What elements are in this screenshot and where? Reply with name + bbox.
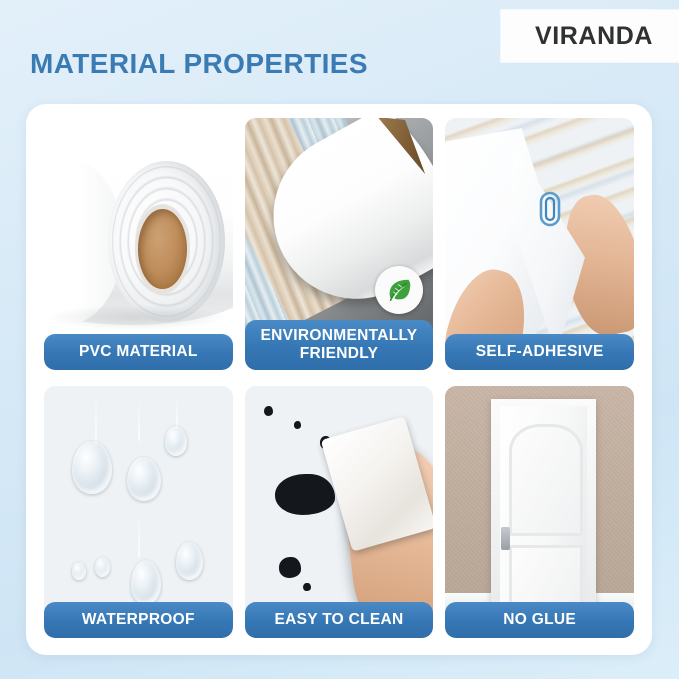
feature-label-environmentally-friendly: ENVIRONMENTALLY FRIENDLY <box>245 320 434 370</box>
feature-card: PVC MATERIAL <box>26 104 652 655</box>
brand-logo-box: VIRANDA <box>501 10 679 62</box>
feature-grid: PVC MATERIAL <box>44 118 634 638</box>
feature-label-easy-to-clean: EASY TO CLEAN <box>245 602 434 638</box>
pvc-roll-image <box>44 118 233 370</box>
easy-to-clean-wipe-image <box>245 386 434 638</box>
no-glue-door-image <box>445 386 634 638</box>
leaf-icon <box>384 275 414 305</box>
label-line-2: FRIENDLY <box>300 345 378 362</box>
feature-tile-waterproof[interactable]: WATERPROOF <box>44 386 233 638</box>
feature-label-no-glue: NO GLUE <box>445 602 634 638</box>
feature-tile-environmentally-friendly[interactable]: ENVIRONMENTALLY FRIENDLY <box>245 118 434 370</box>
brand-name: VIRANDA <box>535 22 653 51</box>
waterproof-droplets-image <box>44 386 233 638</box>
self-adhesive-peel-image <box>445 118 634 370</box>
feature-tile-easy-to-clean[interactable]: EASY TO CLEAN <box>245 386 434 638</box>
feature-label-pvc-material: PVC MATERIAL <box>44 334 233 370</box>
feature-tile-self-adhesive[interactable]: SELF-ADHESIVE <box>445 118 634 370</box>
paperclip-icon <box>530 189 570 229</box>
feature-tile-no-glue[interactable]: NO GLUE <box>445 386 634 638</box>
page-title: MATERIAL PROPERTIES <box>30 48 368 80</box>
product-feature-infographic: VIRANDA MATERIAL PROPERTIES PVC MATERIAL <box>0 0 679 679</box>
feature-tile-pvc-material[interactable]: PVC MATERIAL <box>44 118 233 370</box>
feature-label-self-adhesive: SELF-ADHESIVE <box>445 334 634 370</box>
eco-badge <box>375 266 423 314</box>
feature-label-waterproof: WATERPROOF <box>44 602 233 638</box>
label-line-1: ENVIRONMENTALLY <box>261 327 418 344</box>
